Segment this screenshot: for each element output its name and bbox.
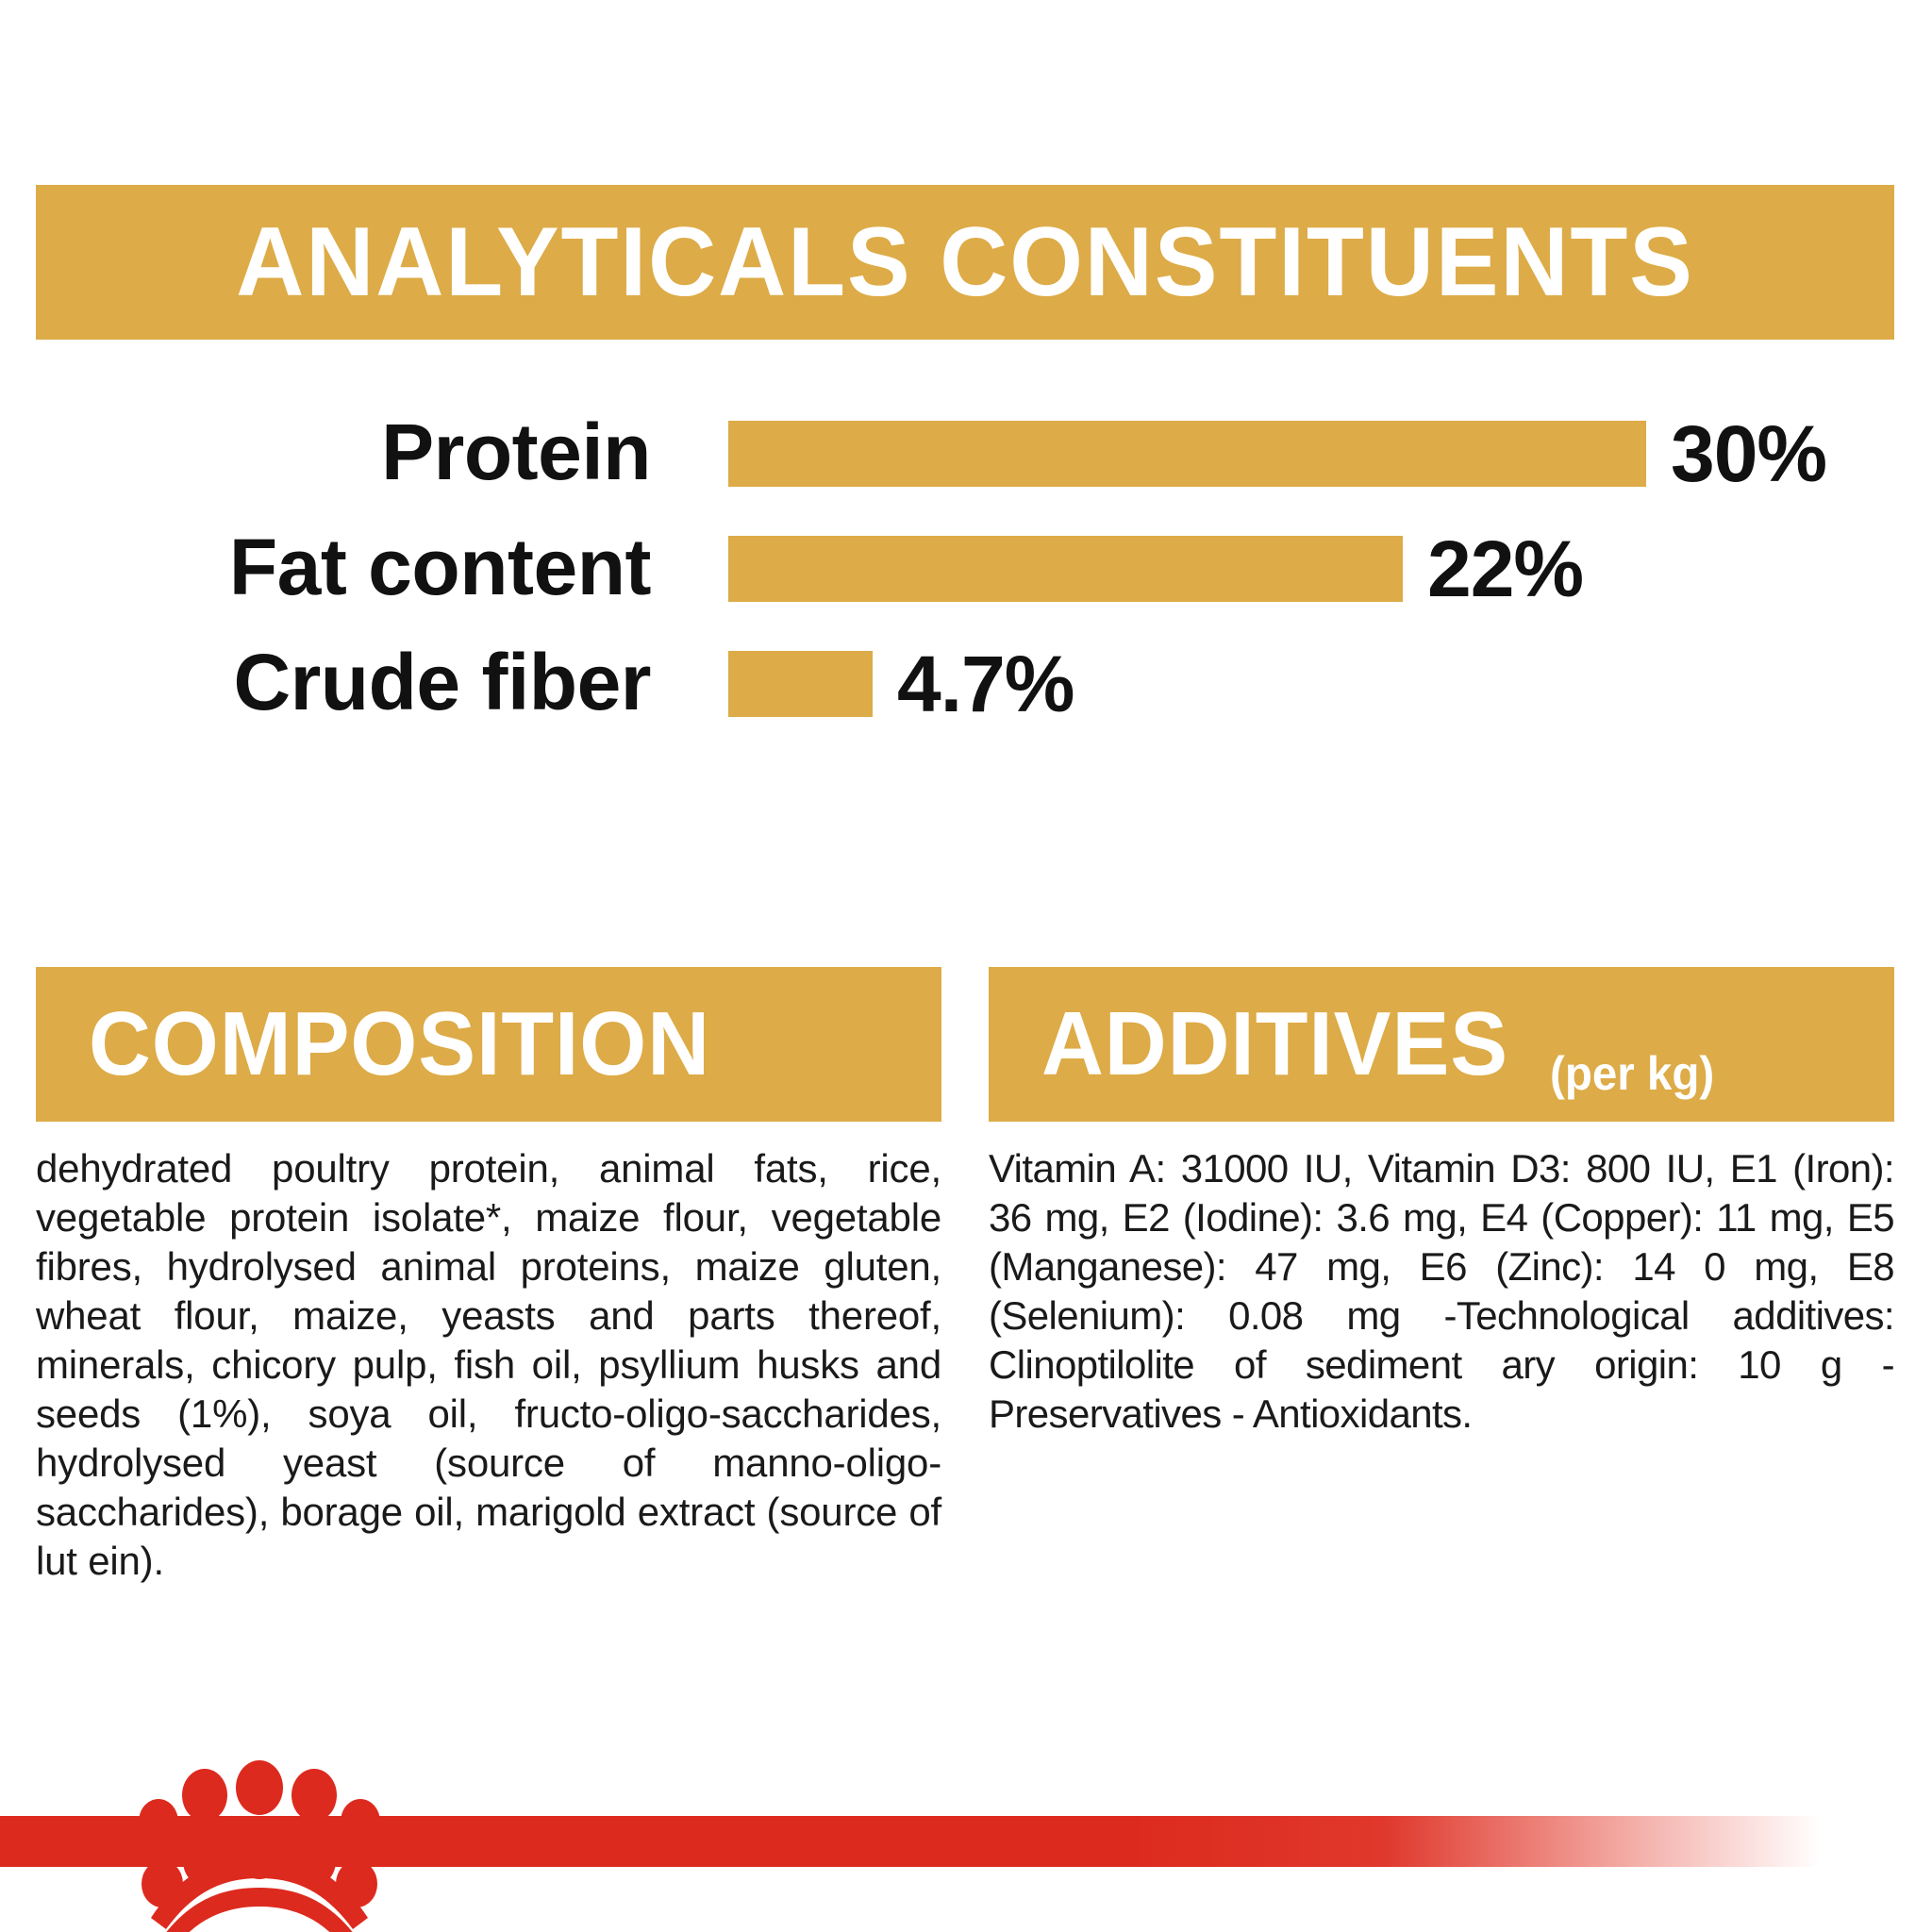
chart-value-fat-content: 22% (1427, 536, 1583, 602)
royal-canin-crown-logo (123, 1750, 396, 1932)
additives-section: ADDITIVES (per kg) Vitamin A: 31000 IU, … (989, 967, 1894, 1439)
analyticals-bar-chart: Protein 30% Fat content 22% Crude fiber … (0, 396, 1932, 741)
additives-title: ADDITIVES (1041, 999, 1508, 1090)
page-title: ANALYTICALS CONSTITUENTS (236, 213, 1694, 311)
composition-title: COMPOSITION (89, 999, 710, 1090)
chart-row-crude-fiber: Crude fiber 4.7% (0, 626, 1932, 741)
chart-bar-wrap-fat-content: 22% (728, 511, 1583, 626)
additives-body-text: Vitamin A: 31000 IU, Vitamin D3: 800 IU,… (989, 1144, 1894, 1439)
additives-subtitle: (per kg) (1550, 1050, 1714, 1097)
chart-bar-fat-content (728, 536, 1403, 602)
chart-value-crude-fiber: 4.7% (897, 651, 1074, 717)
additives-header-band: ADDITIVES (per kg) (989, 967, 1894, 1122)
crown-icon (123, 1750, 396, 1932)
chart-bar-wrap-protein: 30% (728, 396, 1826, 511)
chart-label-fat-content: Fat content (229, 511, 651, 626)
chart-bar-protein (728, 421, 1646, 487)
composition-section: COMPOSITION dehydrated poultry protein, … (36, 967, 941, 1586)
analyticals-header-band: ANALYTICALS CONSTITUENTS (36, 185, 1894, 340)
chart-bar-crude-fiber (728, 651, 873, 717)
chart-bar-wrap-crude-fiber: 4.7% (728, 626, 1074, 741)
chart-label-protein: Protein (381, 396, 651, 511)
composition-header-band: COMPOSITION (36, 967, 941, 1122)
chart-label-crude-fiber: Crude fiber (233, 626, 651, 741)
chart-row-fat-content: Fat content 22% (0, 511, 1932, 626)
chart-row-protein: Protein 30% (0, 396, 1932, 511)
chart-value-protein: 30% (1671, 421, 1826, 487)
composition-body-text: dehydrated poultry protein, animal fats,… (36, 1144, 941, 1586)
